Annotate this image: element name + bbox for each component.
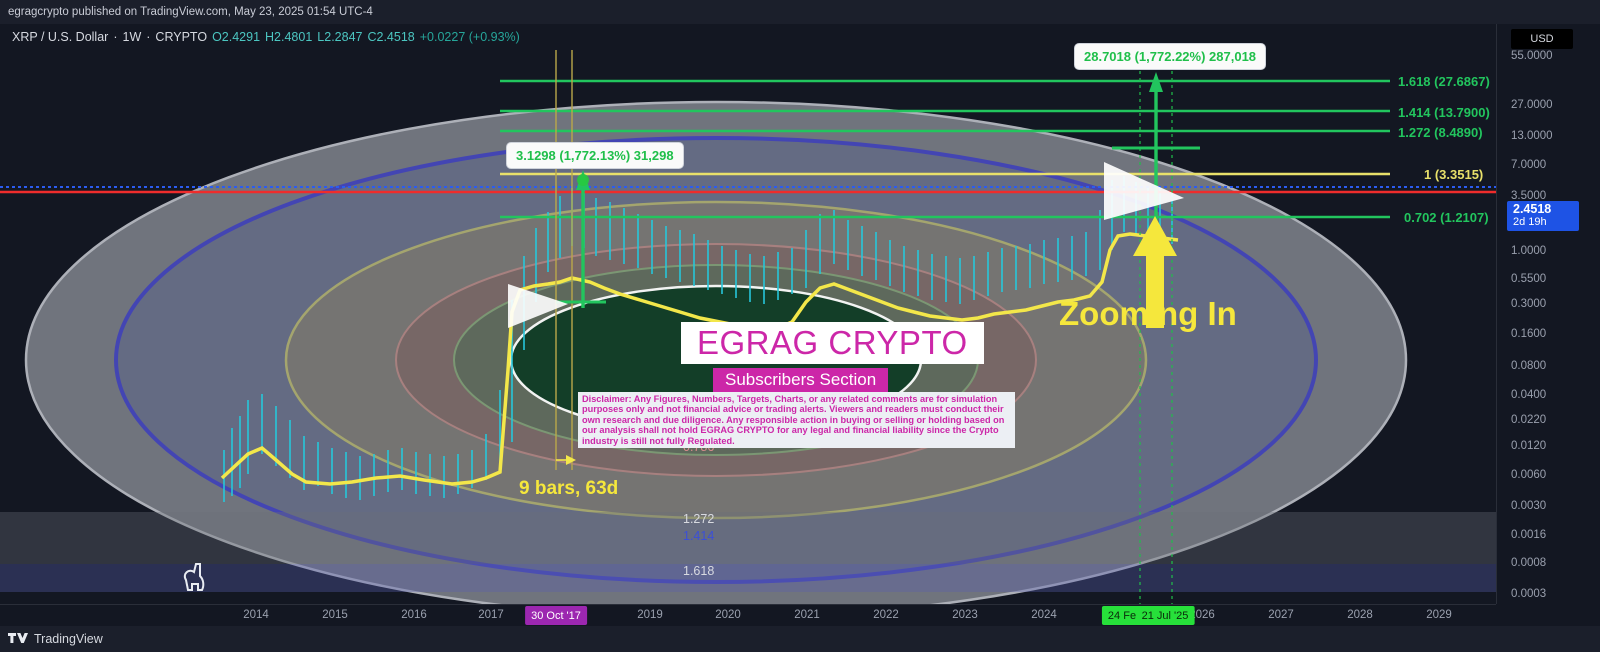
price-tick: 7.0000 [1511, 159, 1546, 171]
time-tick: 2022 [873, 609, 899, 621]
time-axis[interactable]: 2014201520162017201920202021202220232024… [0, 604, 1496, 626]
right-measure-tag: 28.7018 (1,772.22%) 287,018 [1074, 43, 1266, 70]
fib-right-0702: 0.702 (1.2107) [1404, 210, 1489, 225]
current-price-value: 2.4518 [1513, 202, 1579, 216]
ohlc-close: C2.4518 [367, 30, 414, 44]
fib-label-1272: 1.272 [683, 512, 714, 526]
bars-duration-label: 9 bars, 63d [519, 478, 618, 500]
time-tick: 2020 [715, 609, 741, 621]
footer-bar: TradingView [0, 626, 1600, 652]
symbol-info-bar: XRP / U.S. Dollar · 1W · CRYPTO O2.4291 … [0, 24, 1600, 50]
fib-label-1618: 1.618 [683, 564, 714, 578]
time-tick: 2016 [401, 609, 427, 621]
price-tick: 55.0000 [1511, 50, 1553, 62]
price-tick: 0.0003 [1511, 588, 1546, 600]
price-tick: 0.3000 [1511, 298, 1546, 310]
price-tick: 0.0220 [1511, 414, 1546, 426]
watermark-title: EGRAG CRYPTO [681, 322, 984, 364]
tradingview-chart-screenshot: egragcrypto published on TradingView.com… [0, 0, 1600, 652]
time-tick: 2023 [952, 609, 978, 621]
separator-1: · [113, 30, 117, 44]
fib-label-1414: 1.414 [683, 529, 714, 543]
ohlc-high: H2.4801 [265, 30, 312, 44]
price-tick: 0.0800 [1511, 360, 1546, 372]
time-tick: 2028 [1347, 609, 1373, 621]
watermark-subtitle: Subscribers Section [713, 368, 888, 392]
price-tick: 0.0120 [1511, 440, 1546, 452]
symbol-name[interactable]: XRP / U.S. Dollar [12, 30, 108, 44]
price-axis[interactable]: USD 55.000027.000013.00007.00003.50001.0… [1496, 24, 1600, 604]
chart-plot-area[interactable]: 0.702 0.786 1.272 1.414 1.618 EGRAG CRYP… [0, 50, 1496, 604]
time-tick: 2024 [1031, 609, 1057, 621]
fib-right-1414: 1.414 (13.7900) [1398, 105, 1490, 120]
fib-band-fills [0, 512, 1496, 592]
current-price-countdown: 2d 19h [1513, 216, 1579, 229]
price-tick: 0.0030 [1511, 500, 1546, 512]
current-price-badge: 2.4518 2d 19h [1507, 201, 1579, 231]
price-tick: 0.0008 [1511, 557, 1546, 569]
price-tick: 27.0000 [1511, 99, 1553, 111]
ohlc-open: O2.4291 [212, 30, 260, 44]
price-tick: 0.1600 [1511, 328, 1546, 340]
tradingview-brand: TradingView [34, 632, 103, 646]
price-tick: 1.0000 [1511, 245, 1546, 257]
left-measure-tag: 3.1298 (1,772.13%) 31,298 [506, 142, 684, 169]
price-tick: 0.5500 [1511, 273, 1546, 285]
ohlc-low: L2.2847 [317, 30, 362, 44]
time-tick: 2017 [478, 609, 504, 621]
ohlc-change: +0.0227 (+0.93%) [420, 30, 520, 44]
price-tick: 0.0060 [1511, 469, 1546, 481]
fib-right-1618: 1.618 (27.6867) [1398, 74, 1490, 89]
time-tick: 2029 [1426, 609, 1452, 621]
watermark-disclaimer: Disclaimer: Any Figures, Numbers, Target… [578, 392, 1015, 448]
interval-label[interactable]: 1W [123, 30, 142, 44]
fib-right-1272: 1.272 (8.4890) [1398, 125, 1483, 140]
zooming-in-label: Zooming In [1059, 295, 1237, 333]
fib-right-1: 1 (3.3515) [1424, 167, 1483, 182]
time-tick: 2027 [1268, 609, 1294, 621]
price-tick: 0.0400 [1511, 389, 1546, 401]
price-tick: 0.0016 [1511, 529, 1546, 541]
currency-badge[interactable]: USD [1511, 29, 1573, 49]
time-tick: 2015 [322, 609, 348, 621]
publication-text: egragcrypto published on TradingView.com… [8, 6, 373, 18]
separator-2: · [146, 30, 150, 44]
time-badge[interactable]: 21 Jul '25 [1136, 606, 1195, 625]
publication-bar: egragcrypto published on TradingView.com… [0, 0, 1600, 24]
exchange-label: CRYPTO [155, 30, 207, 44]
time-tick: 2019 [637, 609, 663, 621]
time-tick: 2021 [794, 609, 820, 621]
tradingview-logo-icon [8, 633, 28, 646]
time-tick: 2014 [243, 609, 269, 621]
price-tick: 13.0000 [1511, 130, 1553, 142]
time-badge[interactable]: 30 Oct '17 [525, 606, 587, 625]
